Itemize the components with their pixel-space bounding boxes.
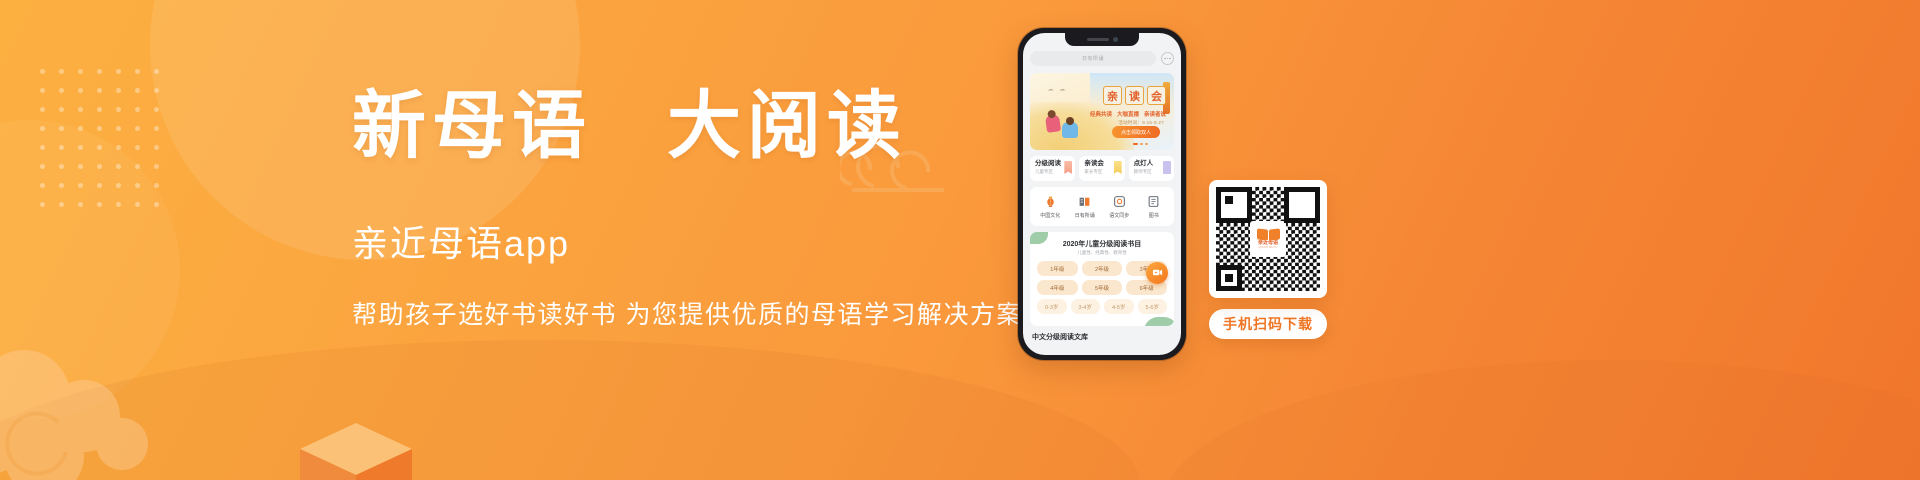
hero-subtitles: 经典共读 大咖直播 亲读者说 [1090, 110, 1166, 118]
birds-icon: ᨏ ᨏ [1048, 87, 1068, 93]
page-title: 新母语 大阅读 [352, 88, 1072, 168]
headline-part-1: 新母语 [352, 86, 592, 168]
age-chip[interactable]: 4-5岁 [1104, 299, 1134, 314]
category-card[interactable]: 亲读会 家长专区 [1079, 156, 1124, 181]
sync-icon [1113, 195, 1126, 208]
person-icon [1163, 161, 1171, 174]
hero-title-char-2: 读 [1125, 86, 1144, 105]
brand-logo-name: 亲近母语 [1258, 241, 1278, 246]
booklist-card: 2020年儿童分级阅读书目 儿童性、经典性、教育性 1年级 2年级 [1030, 232, 1174, 327]
age-chip[interactable]: 5-6岁 [1138, 299, 1168, 314]
more-menu-icon[interactable] [1161, 52, 1174, 65]
brand-logo: 亲近母语 QINJIN MUYU [1250, 221, 1286, 257]
nav-item-sync[interactable]: 语文同步 [1102, 195, 1137, 219]
illustration-child-blue [1062, 122, 1078, 138]
app-icon-nav: 中国文化 日有所诵 [1030, 187, 1174, 226]
hero-title: 亲 读 会 [1103, 86, 1166, 105]
decorative-hill-left [0, 340, 1140, 480]
headline-part-2: 大阅读 [667, 86, 907, 168]
hero-title-char-3: 会 [1147, 86, 1166, 105]
search-input[interactable]: 日有所诵 [1030, 51, 1156, 66]
app-name-subtitle: 亲近母语app [352, 222, 1072, 265]
lantern-icon [1044, 195, 1057, 208]
category-card[interactable]: 点灯人 教师专区 [1129, 156, 1174, 181]
hero-cta-button[interactable]: 点击领取双人 [1112, 126, 1160, 138]
nav-label: 日有所诵 [1075, 212, 1095, 219]
app-search-row: 日有所诵 [1030, 51, 1174, 66]
nav-label: 语文同步 [1109, 212, 1129, 219]
hero-sub-2: 大咖直播 [1117, 110, 1139, 118]
age-chip[interactable]: 3-4岁 [1071, 299, 1101, 314]
category-card[interactable]: 分级阅读 儿童专区 [1030, 156, 1075, 181]
decorative-cloud-bottom-left [0, 344, 182, 480]
age-row: 0-3岁 3-4岁 4-5岁 5-6岁 [1037, 299, 1167, 314]
download-button[interactable]: 手机扫码下载 [1209, 309, 1327, 339]
hero-sub-3: 亲读者说 [1144, 110, 1166, 118]
book-open-icon [1078, 195, 1091, 208]
category-card-row: 分级阅读 儿童专区 亲读会 家长专区 点灯人 教师专区 [1030, 156, 1174, 181]
decorative-circle-left [0, 120, 180, 420]
grade-chip[interactable]: 4年级 [1037, 280, 1078, 295]
phone-mockup: 日有所诵 ᨏ ᨏ 亲 读 会 [1018, 28, 1186, 360]
hero-sub-1: 经典共读 [1090, 110, 1112, 118]
nav-item-culture[interactable]: 中国文化 [1033, 195, 1068, 219]
grade-row-2: 4年级 5年级 6年级 [1037, 280, 1167, 295]
qr-code: 亲近母语 QINJIN MUYU [1216, 187, 1320, 291]
nav-label: 中国文化 [1040, 212, 1060, 219]
search-placeholder: 日有所诵 [1082, 55, 1104, 62]
grade-chip[interactable]: 5年级 [1082, 280, 1123, 295]
age-chip[interactable]: 0-3岁 [1037, 299, 1067, 314]
app-hero-banner[interactable]: ᨏ ᨏ 亲 读 会 经典共读 大咖直播 亲读者说 活动时间：9.16-9.27 [1030, 73, 1174, 150]
illustration-child-red [1045, 114, 1061, 133]
decorative-cube [300, 423, 412, 480]
decorative-hill-right [1160, 360, 1920, 480]
brand-logo-en: QINJIN MUYU [1258, 247, 1277, 250]
promo-banner: 新母语 大阅读 亲近母语app 帮助孩子选好书读好书 为您提供优质的母语学习解决… [0, 0, 1920, 480]
qr-section: 亲近母语 QINJIN MUYU 手机扫码下载 [1209, 180, 1327, 339]
video-play-icon[interactable] [1146, 262, 1168, 284]
qr-card: 亲近母语 QINJIN MUYU [1209, 180, 1327, 298]
phone-notch [1065, 33, 1139, 46]
leaf-decoration-icon [1144, 317, 1174, 326]
grade-chip[interactable]: 1年级 [1037, 261, 1078, 276]
booklist-subtitle: 儿童性、经典性、教育性 [1037, 251, 1167, 256]
nav-item-recite[interactable]: 日有所诵 [1068, 195, 1103, 219]
banner-copy: 新母语 大阅读 亲近母语app 帮助孩子选好书读好书 为您提供优质的母语学习解决… [352, 88, 1072, 332]
phone-screen: 日有所诵 ᨏ ᨏ 亲 读 会 [1023, 33, 1181, 355]
book-icon [1147, 195, 1160, 208]
grade-chip[interactable]: 2年级 [1082, 261, 1123, 276]
library-section-title: 中文分级阅读文库 [1030, 332, 1174, 342]
booklist-title: 2020年儿童分级阅读书目 [1037, 241, 1167, 248]
carousel-dots[interactable] [1133, 143, 1148, 145]
decorative-dot-grid [33, 62, 173, 212]
hero-title-char-1: 亲 [1103, 86, 1122, 105]
nav-label: 图书 [1149, 212, 1159, 219]
tagline: 帮助孩子选好书读好书 为您提供优质的母语学习解决方案 [352, 299, 1072, 332]
nav-item-books[interactable]: 图书 [1137, 195, 1172, 219]
